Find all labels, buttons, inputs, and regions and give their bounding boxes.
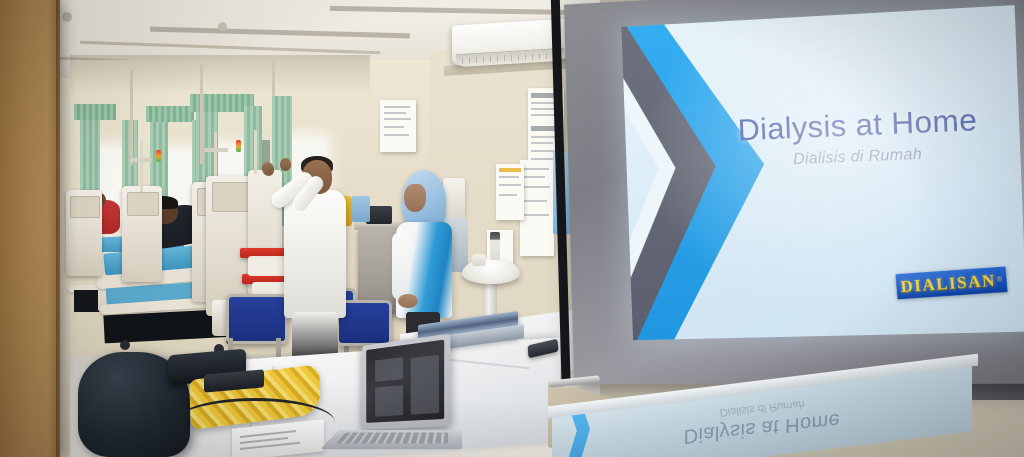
- dialisan-logo-text: DIALISAN: [900, 270, 997, 297]
- photo-scene: Dialysis at Home Dialisis di Rumah DIALI…: [0, 0, 1024, 457]
- soap-dispenser: [490, 232, 500, 260]
- curtain-valance: [146, 106, 194, 122]
- iv-pole: [254, 130, 257, 174]
- assistant-person: [386, 170, 458, 330]
- box-on-cabinet: [352, 196, 370, 222]
- slide-title: Dialysis at Home: [708, 102, 1010, 146]
- registered-mark: ®: [997, 276, 1003, 283]
- laptop[interactable]: [330, 340, 450, 452]
- machine-status-light: [236, 140, 241, 152]
- pillar-edge-shadow: [56, 0, 61, 457]
- left-pillar: [0, 0, 60, 457]
- laptop-base: [320, 430, 462, 449]
- laptop-keyboard[interactable]: [336, 433, 448, 444]
- presenter-person: [276, 152, 354, 322]
- ceiling-fixture: [62, 12, 72, 22]
- iv-arm: [204, 148, 228, 152]
- presentation-slide[interactable]: Dialysis at Home Dialisis di Rumah DIALI…: [621, 5, 1024, 340]
- iv-arm: [130, 158, 152, 162]
- assistant-arm: [392, 232, 408, 300]
- sink-item: [472, 254, 486, 266]
- dialisan-logo: DIALISAN®: [896, 267, 1008, 300]
- machine-screen: [127, 192, 159, 216]
- presenter-hand-left: [280, 158, 291, 171]
- wall-poster: [380, 100, 416, 152]
- laptop-screen[interactable]: [366, 340, 444, 423]
- wall-shadow: [70, 55, 370, 95]
- curtain-pole: [200, 64, 203, 164]
- iv-pole: [140, 140, 143, 192]
- wash-basin: [462, 258, 520, 284]
- projection-screen-assembly: Dialysis at Home Dialisis di Rumah DIALI…: [560, 0, 1024, 392]
- assistant-face: [404, 184, 426, 212]
- machine-status-light: [156, 150, 161, 162]
- wall-poster: [520, 160, 554, 256]
- machine-screen: [70, 196, 100, 218]
- curtain-pole: [130, 70, 133, 165]
- wall-poster: [496, 164, 524, 220]
- laptop-lid: [362, 334, 451, 430]
- curtain-valance: [74, 104, 116, 120]
- presenter-coat: [284, 190, 346, 318]
- ceiling-fixture: [218, 22, 227, 31]
- bed-caster: [120, 340, 130, 350]
- assistant-hands: [398, 294, 418, 308]
